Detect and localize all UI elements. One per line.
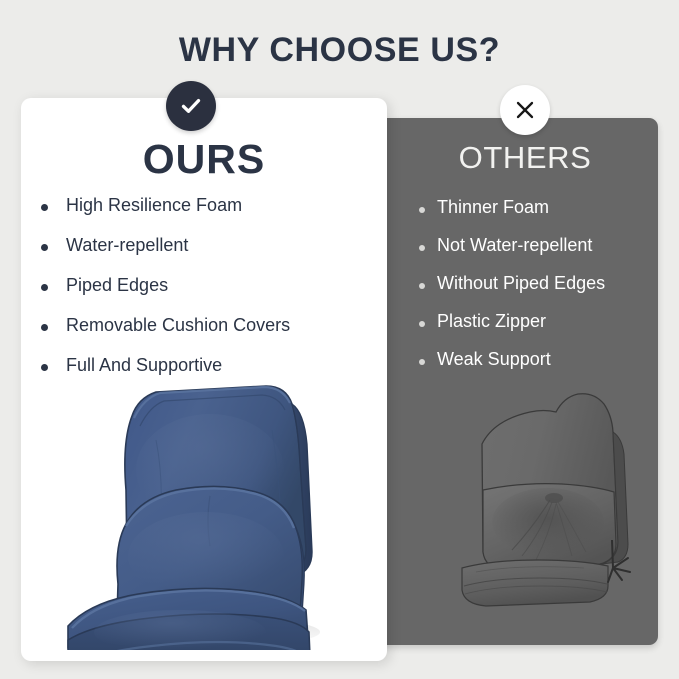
close-badge (500, 85, 550, 135)
list-item: Not Water-repellent (419, 236, 659, 254)
check-badge (166, 81, 216, 131)
list-item: Weak Support (419, 350, 659, 368)
bullet-icon (41, 364, 48, 371)
infographic-root: WHY CHOOSE US? OURS OTHERS High Resilien… (0, 0, 679, 679)
others-feature-list: Thinner Foam Not Water-repellent Without… (419, 198, 659, 388)
ours-feature-list: High Resilience Foam Water-repellent Pip… (41, 196, 371, 396)
feature-label: Weak Support (437, 350, 551, 368)
blue-chair-cushion-image (60, 370, 360, 650)
bullet-icon (41, 204, 48, 211)
feature-label: Removable Cushion Covers (66, 316, 290, 334)
bullet-icon (419, 321, 425, 327)
bullet-icon (419, 283, 425, 289)
bullet-icon (41, 284, 48, 291)
list-item: Plastic Zipper (419, 312, 659, 330)
bullet-icon (41, 244, 48, 251)
list-item: Removable Cushion Covers (41, 316, 371, 334)
list-item: Without Piped Edges (419, 274, 659, 292)
list-item: Piped Edges (41, 276, 371, 294)
feature-label: Thinner Foam (437, 198, 549, 216)
feature-label: Piped Edges (66, 276, 168, 294)
feature-label: High Resilience Foam (66, 196, 242, 214)
check-icon (178, 93, 204, 119)
feature-label: Plastic Zipper (437, 312, 546, 330)
bullet-icon (419, 359, 425, 365)
feature-label: Water-repellent (66, 236, 188, 254)
bullet-icon (41, 324, 48, 331)
bullet-icon (419, 207, 425, 213)
feature-label: Without Piped Edges (437, 274, 605, 292)
list-item: High Resilience Foam (41, 196, 371, 214)
list-item: Thinner Foam (419, 198, 659, 216)
ours-heading: OURS (21, 136, 387, 183)
bullet-icon (419, 245, 425, 251)
page-title: WHY CHOOSE US? (0, 31, 679, 70)
list-item: Water-repellent (41, 236, 371, 254)
close-icon (514, 99, 536, 121)
gray-chair-cushion-image (452, 372, 672, 622)
others-heading: OTHERS (396, 140, 654, 176)
feature-label: Not Water-repellent (437, 236, 592, 254)
